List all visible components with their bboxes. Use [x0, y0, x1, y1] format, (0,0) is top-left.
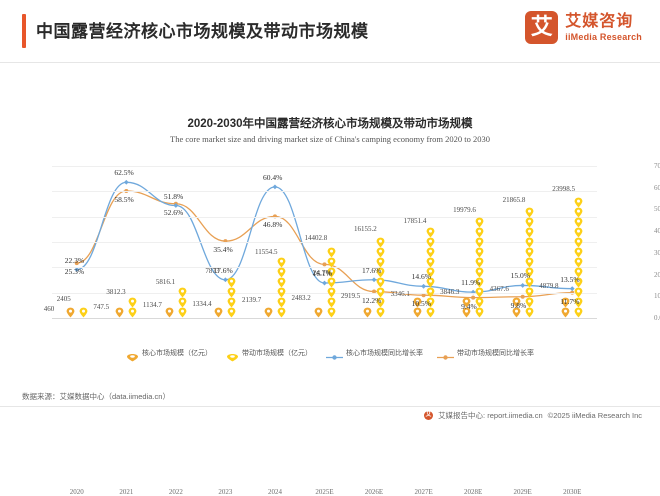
line-data-point: [124, 180, 129, 185]
chart-bar-pictogram: [79, 308, 88, 318]
growth-rate-label: 60.4%: [263, 173, 282, 182]
growth-rate-label: 12.2%: [362, 296, 381, 305]
line-data-point: [273, 184, 278, 189]
growth-rate-label: 17.6%: [213, 266, 232, 275]
growth-rate-label: 10.5%: [412, 299, 431, 308]
map-pin-icon: [376, 307, 385, 318]
map-pin-icon: [475, 227, 484, 238]
growth-rate-label: 51.8%: [164, 192, 183, 201]
legend-label: 带动市场规模（亿元）: [242, 348, 312, 358]
chart-bar-pictogram: [66, 308, 75, 318]
legend-item[interactable]: 核心市场规模同比增长率: [326, 348, 423, 358]
map-pin-icon: [413, 307, 422, 318]
chart-bar-pictogram: [363, 308, 372, 318]
chart-bar-pictogram: [277, 258, 286, 318]
y-axis-tick-right: 30.00%: [654, 249, 660, 257]
bar-value-label: 4367.6: [490, 285, 509, 293]
y-axis-tick-right: 0.00%: [654, 314, 660, 322]
bar-value-label: 21865.8: [503, 196, 526, 204]
map-pin-icon: [475, 217, 484, 228]
header-accent-bar: [22, 14, 26, 48]
map-pin-icon: [314, 307, 323, 318]
map-pin-icon: [376, 237, 385, 248]
y-axis-tick-right: 50.00%: [654, 205, 660, 213]
legend-label: 核心市场规模同比增长率: [346, 348, 423, 358]
x-axis-tick: 2026E: [351, 488, 397, 496]
map-pin-icon: [327, 257, 336, 268]
growth-rate-label: 24.7%: [313, 268, 332, 277]
y-axis-tick-right: 70.00%: [654, 162, 660, 170]
legend-item[interactable]: 带动市场规模（亿元）: [226, 348, 312, 358]
growth-rate-label: 13.5%: [560, 275, 579, 284]
map-pin-icon: [426, 227, 435, 238]
brand-logo: 艾 艾媒咨询 iiMedia Research: [525, 11, 642, 44]
growth-rate-label: 9.8%: [511, 301, 527, 310]
chart-bar-pictogram: [214, 308, 223, 318]
bar-value-label: 1134.7: [143, 301, 162, 309]
map-pin-icon: [327, 277, 336, 288]
map-pin-icon: [277, 287, 286, 298]
brand-name-en: iiMedia Research: [565, 33, 642, 42]
map-pin-icon: [426, 287, 435, 298]
map-pin-icon: [277, 257, 286, 268]
map-pin-icon: [128, 307, 137, 318]
line-data-point: [174, 202, 178, 206]
page-title: 中国露营经济核心市场规模及带动市场规模: [36, 17, 369, 42]
map-pin-icon: [574, 237, 583, 248]
map-pin-icon: [426, 257, 435, 268]
x-axis-tick: 2021: [103, 488, 149, 496]
chart-legend: 核心市场规模（亿元）带动市场规模（亿元）核心市场规模同比增长率带动市场规模同比增…: [0, 348, 660, 358]
growth-rate-label: 52.6%: [164, 208, 183, 217]
growth-rate-label: 9.4%: [461, 302, 477, 311]
x-axis-tick: 2020: [54, 488, 100, 496]
map-pin-icon: [475, 237, 484, 248]
map-pin-icon: [525, 207, 534, 218]
bar-value-label: 3812.3: [106, 288, 125, 296]
bar-value-label: 3846.3: [440, 288, 459, 296]
growth-rate-label: 11.9%: [461, 278, 480, 287]
legend-pin-icon: [126, 349, 139, 358]
map-pin-icon: [426, 307, 435, 318]
map-pin-icon: [574, 217, 583, 228]
growth-rate-label: 11.7%: [560, 297, 579, 306]
chart-gridline: [52, 166, 597, 167]
x-axis-tick: 2024: [252, 488, 298, 496]
legend-item[interactable]: 核心市场规模（亿元）: [126, 348, 212, 358]
map-pin-icon: [475, 287, 484, 298]
legend-pin-icon: [226, 349, 239, 358]
map-pin-icon: [178, 307, 187, 318]
map-pin-icon: [66, 307, 75, 318]
map-pin-icon: [574, 247, 583, 258]
legend-item[interactable]: 带动市场规模同比增长率: [437, 348, 534, 358]
chart-bar-pictogram: [178, 288, 187, 318]
bar-value-label: 11554.5: [255, 248, 278, 256]
map-pin-icon: [327, 247, 336, 258]
y-axis-tick-right: 10.00%: [654, 292, 660, 300]
map-pin-icon: [525, 257, 534, 268]
map-pin-icon: [227, 307, 236, 318]
x-axis-tick: 2022: [153, 488, 199, 496]
growth-rate-label: 35.4%: [213, 245, 232, 254]
bar-value-label: 3346.1: [391, 290, 410, 298]
bar-value-label: 14402.8: [305, 234, 328, 242]
legend-line-icon: [326, 349, 343, 358]
y-axis-tick-right: 60.00%: [654, 184, 660, 192]
growth-rate-label: 62.5%: [114, 168, 133, 177]
map-pin-icon: [574, 307, 583, 318]
map-pin-icon: [376, 277, 385, 288]
growth-rate-label: 17.6%: [362, 266, 381, 275]
chart-gridline: [52, 293, 597, 294]
map-pin-icon: [475, 257, 484, 268]
map-pin-icon: [475, 247, 484, 258]
report-center-link[interactable]: 艾媒报告中心: report.iimedia.cn: [438, 410, 543, 421]
x-axis-tick: 2028E: [450, 488, 496, 496]
map-pin-icon: [327, 297, 336, 308]
map-pin-icon: [327, 287, 336, 298]
bar-value-label: 2919.5: [341, 292, 360, 300]
map-pin-icon: [214, 307, 223, 318]
growth-rate-label: 22.3%: [65, 256, 84, 265]
map-pin-icon: [178, 287, 187, 298]
map-pin-icon: [115, 307, 124, 318]
growth-rate-label: 25.3%: [65, 267, 84, 276]
y-axis-tick-right: 40.00%: [654, 227, 660, 235]
chart-gridline: [52, 242, 597, 243]
bar-value-label: 460: [44, 305, 55, 313]
bar-value-label: 23998.5: [552, 185, 575, 193]
header-divider: [0, 62, 660, 63]
growth-rate-label: 15.0%: [511, 271, 530, 280]
growth-line: [77, 191, 572, 298]
x-axis-tick: 2027E: [401, 488, 447, 496]
page-footer: 艾 艾媒报告中心: report.iimedia.cn ©2025 iiMedi…: [424, 410, 642, 421]
map-pin-icon: [561, 307, 570, 318]
map-pin-icon: [426, 237, 435, 248]
map-pin-icon: [525, 217, 534, 228]
chart-title: 2020-2030年中国露营经济核心市场规模及带动市场规模: [0, 115, 660, 131]
x-axis-tick: 2029E: [500, 488, 546, 496]
map-pin-icon: [264, 307, 273, 318]
map-pin-icon: [277, 297, 286, 308]
growth-rate-label: 58.5%: [114, 195, 133, 204]
bar-value-label: 4879.8: [539, 282, 558, 290]
map-pin-icon: [574, 227, 583, 238]
growth-rate-label: 14.6%: [412, 272, 431, 281]
bar-value-label: 747.5: [93, 303, 109, 311]
chart-bar-pictogram: [376, 238, 385, 318]
bar-value-label: 2139.7: [242, 296, 261, 304]
y-axis-tick-right: 20.00%: [654, 271, 660, 279]
map-pin-icon: [525, 247, 534, 258]
map-pin-icon: [79, 307, 88, 318]
map-pin-icon: [327, 307, 336, 318]
chart-bar-pictogram: [264, 308, 273, 318]
chart-gridline: [52, 217, 597, 218]
data-source-note: 数据来源：艾媒数据中心（data.iimedia.cn）: [22, 391, 170, 402]
legend-label: 带动市场规模同比增长率: [457, 348, 534, 358]
map-pin-icon: [128, 297, 137, 308]
map-pin-icon: [277, 307, 286, 318]
map-pin-icon: [227, 297, 236, 308]
map-pin-icon: [574, 257, 583, 268]
chart-bar-pictogram: [115, 308, 124, 318]
bar-value-label: 16155.2: [354, 225, 377, 233]
footer-divider: [0, 406, 660, 407]
map-pin-icon: [426, 247, 435, 258]
map-pin-icon: [525, 287, 534, 298]
map-pin-icon: [574, 197, 583, 208]
page-header: 中国露营经济核心市场规模及带动市场规模 艾 艾媒咨询 iiMedia Resea…: [0, 0, 660, 62]
legend-label: 核心市场规模（亿元）: [142, 348, 212, 358]
chart-bar-pictogram: [314, 308, 323, 318]
map-pin-icon: [475, 267, 484, 278]
map-pin-icon: [165, 307, 174, 318]
map-pin-icon: [227, 287, 236, 298]
bar-value-label: 2405: [57, 295, 71, 303]
x-axis-tick: 2030E: [549, 488, 595, 496]
chart-gridline: [52, 318, 597, 319]
growth-rate-label: 46.8%: [263, 220, 282, 229]
map-pin-icon: [376, 247, 385, 258]
copyright-text: ©2025 iiMedia Research Inc: [548, 411, 642, 420]
bar-value-label: 19979.6: [453, 206, 476, 214]
bar-value-label: 1334.4: [192, 300, 211, 308]
brand-name-cn: 艾媒咨询: [565, 14, 642, 30]
map-pin-icon: [277, 277, 286, 288]
x-axis-tick: 2023: [202, 488, 248, 496]
chart-subtitle: The core market size and driving market …: [0, 134, 660, 144]
brand-mark-icon: 艾: [525, 11, 558, 44]
report-center-icon: 艾: [424, 411, 433, 420]
map-pin-icon: [277, 267, 286, 278]
map-pin-icon: [525, 227, 534, 238]
x-axis-tick: 2025E: [302, 488, 348, 496]
map-pin-icon: [178, 297, 187, 308]
bar-value-label: 17851.4: [404, 217, 427, 225]
bar-value-label: 5816.1: [156, 278, 175, 286]
map-pin-icon: [525, 237, 534, 248]
chart-bar-pictogram: [165, 308, 174, 318]
bar-value-label: 2483.2: [292, 294, 311, 302]
map-pin-icon: [363, 307, 372, 318]
chart-bar-pictogram: [227, 278, 236, 318]
chart-bar-pictogram: [128, 298, 137, 318]
chart-bar-pictogram: [327, 248, 336, 318]
chart-gridline: [52, 191, 597, 192]
legend-line-icon: [437, 349, 454, 358]
map-pin-icon: [227, 277, 236, 288]
map-pin-icon: [574, 207, 583, 218]
chart-plot-area: 0500010000150002000025000300000.00%10.00…: [52, 166, 597, 318]
